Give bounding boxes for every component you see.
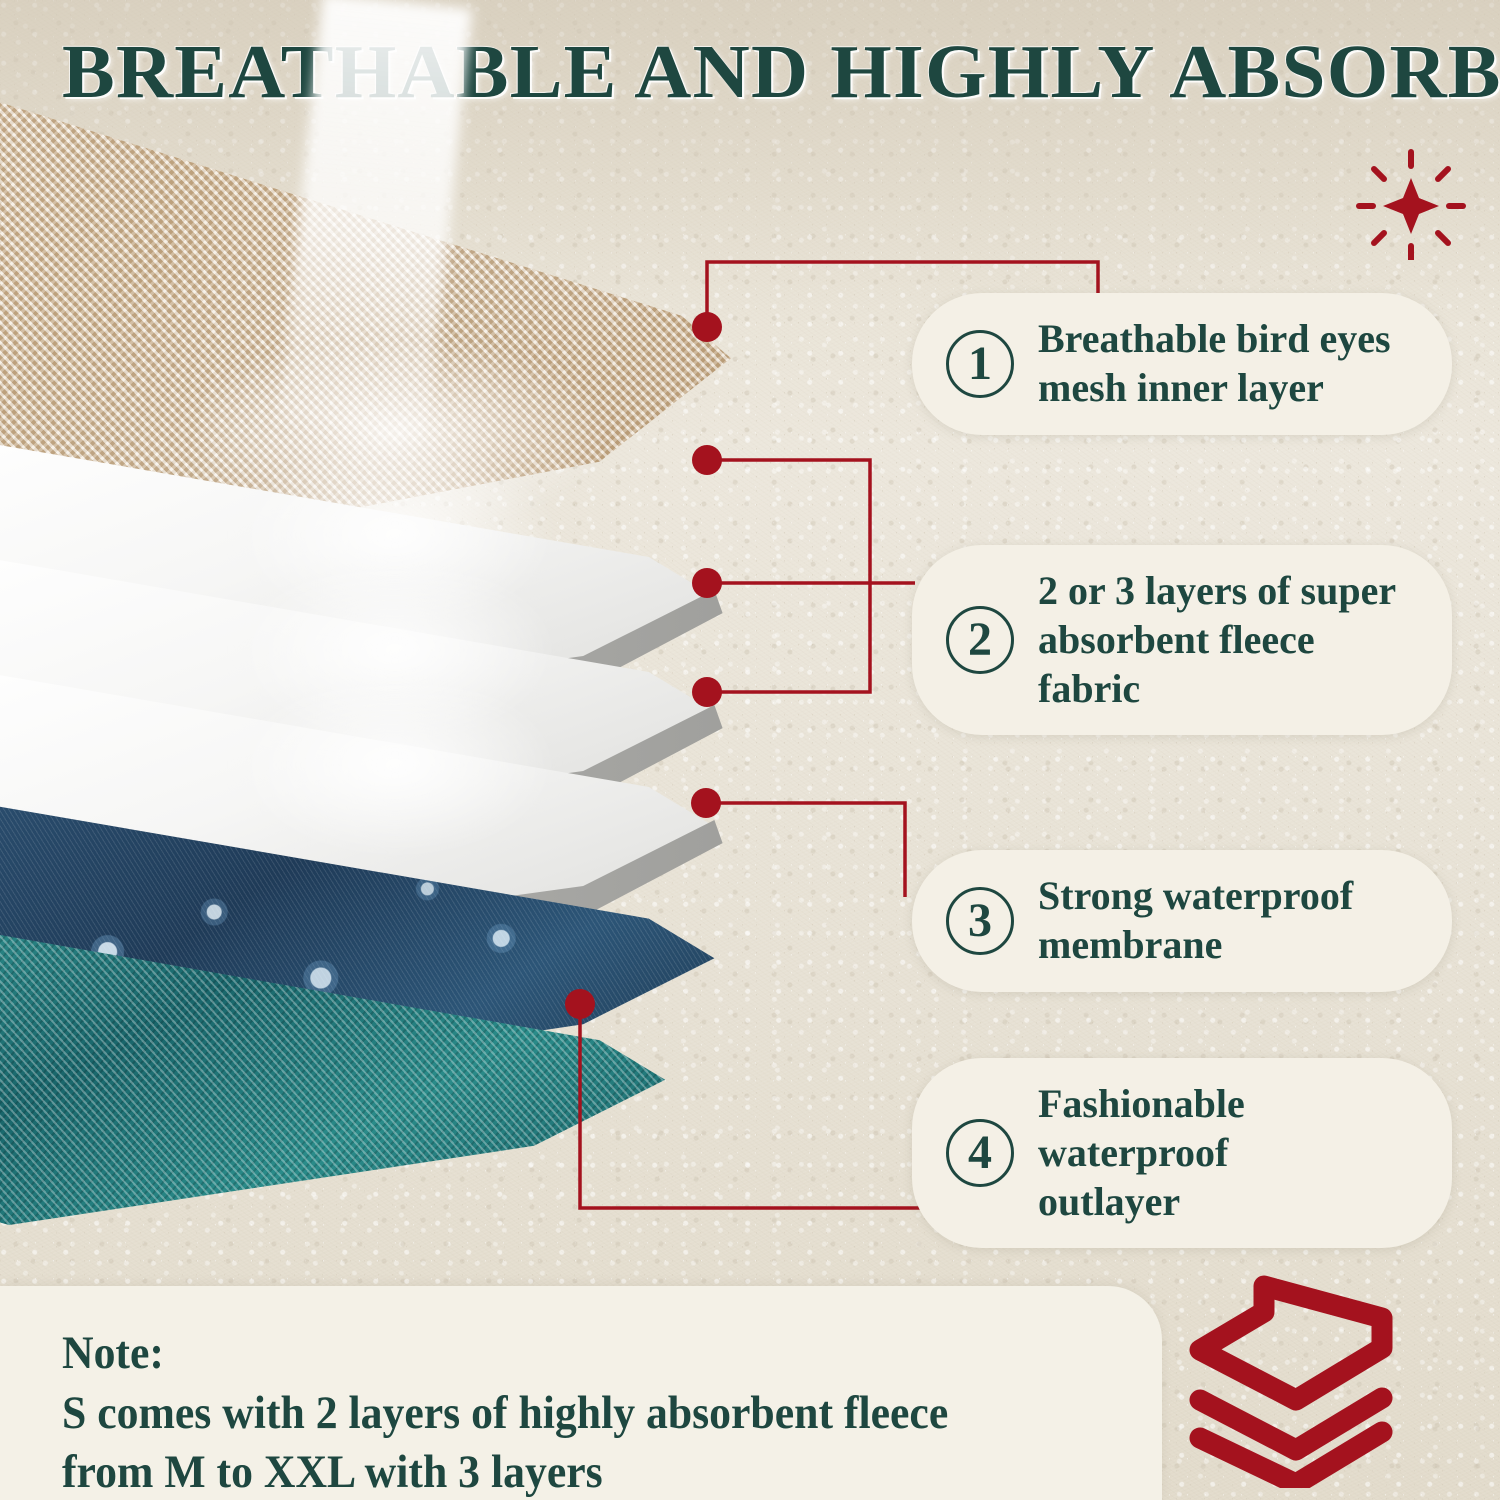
layer-outer-fabric bbox=[0, 895, 780, 1225]
outer-fabric-surface bbox=[0, 895, 780, 1225]
note-line-1: S comes with 2 layers of highly absorben… bbox=[62, 1384, 1085, 1444]
callout-2: 2 2 or 3 layers of super absorbent fleec… bbox=[912, 545, 1452, 735]
fabric-layer-stack-illustration bbox=[0, 95, 820, 1225]
callout-1-text: Breathable bird eyes mesh inner layer bbox=[1038, 315, 1391, 413]
sparkle-icon bbox=[1355, 148, 1467, 260]
callout-4: 4 Fashionable waterproof outlayer bbox=[912, 1058, 1452, 1248]
note-heading: Note: bbox=[62, 1324, 1085, 1384]
callout-3-text: Strong waterproof membrane bbox=[1038, 872, 1353, 970]
callout-3: 3 Strong waterproof membrane bbox=[912, 850, 1452, 992]
note-line-2: from M to XXL with 3 layers bbox=[62, 1443, 1085, 1500]
callout-3-number: 3 bbox=[946, 887, 1014, 955]
callout-2-text: 2 or 3 layers of super absorbent fleece … bbox=[1038, 567, 1406, 713]
callout-1-number: 1 bbox=[946, 330, 1014, 398]
note-panel: Note: S comes with 2 layers of highly ab… bbox=[0, 1286, 1162, 1500]
callout-2-number: 2 bbox=[946, 606, 1014, 674]
callout-1: 1 Breathable bird eyes mesh inner layer bbox=[912, 293, 1452, 435]
layers-stack-icon bbox=[1186, 1272, 1440, 1488]
callout-4-text: Fashionable waterproof outlayer bbox=[1038, 1080, 1406, 1226]
callout-4-number: 4 bbox=[946, 1119, 1014, 1187]
